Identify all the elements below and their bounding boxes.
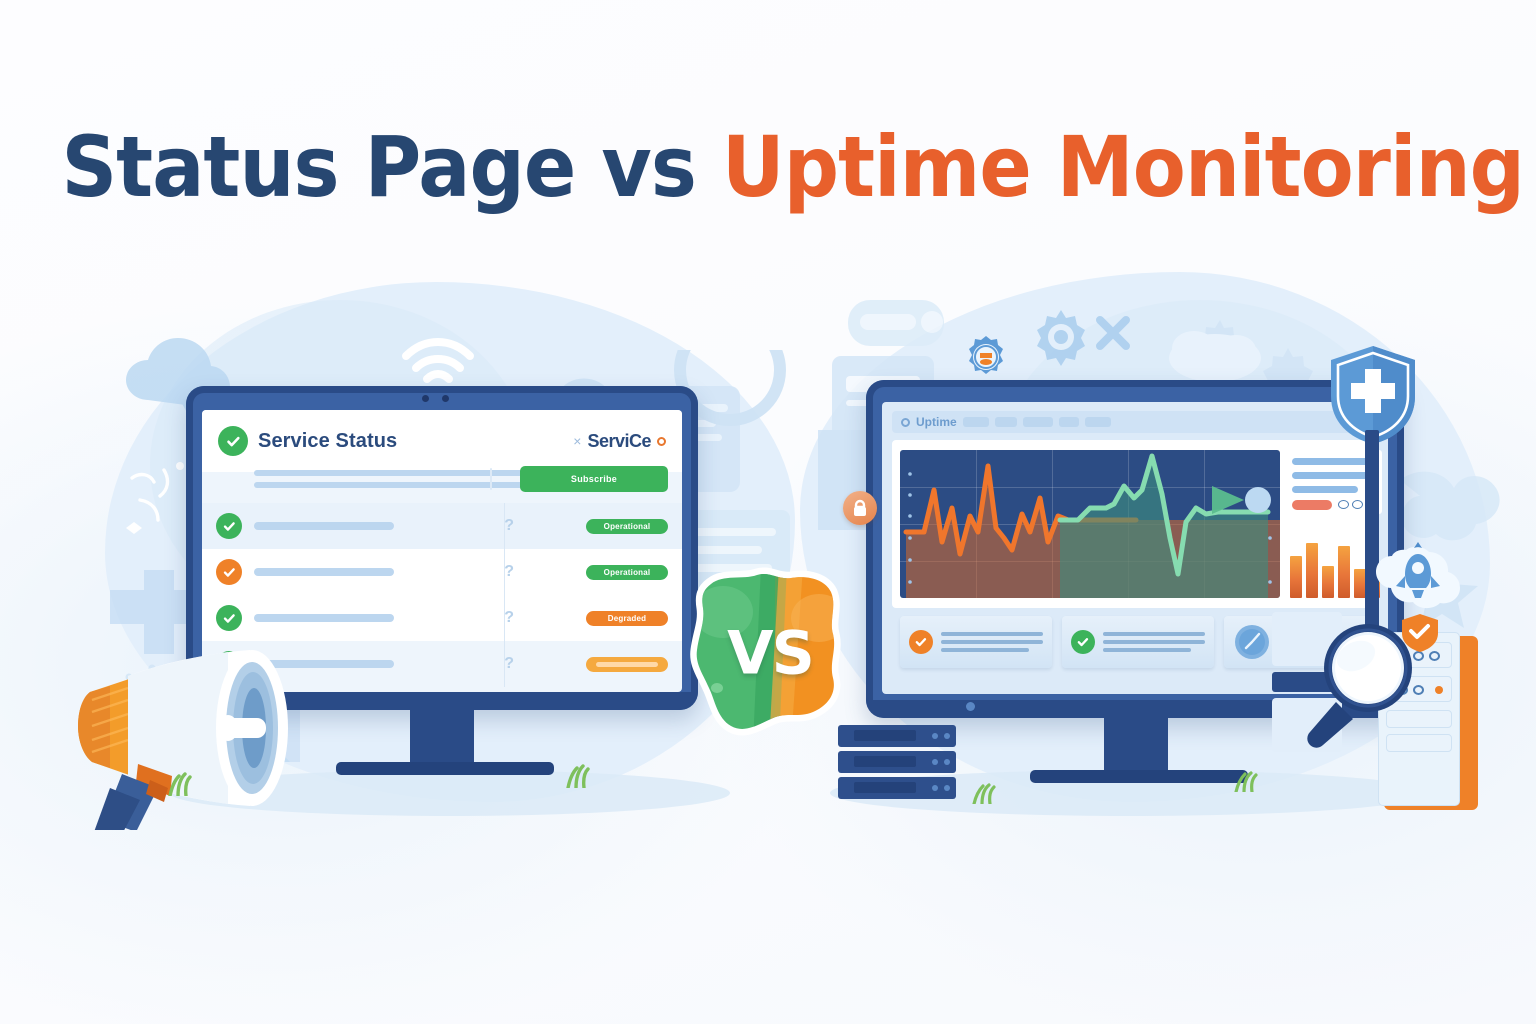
page-title: Status Page vs Uptime Monitoring	[61, 118, 1474, 216]
bar	[1322, 566, 1334, 598]
card-lines	[941, 632, 1043, 652]
axis-line	[1280, 524, 1282, 598]
check-circle-icon	[1071, 630, 1095, 654]
toolbar-segment	[1023, 417, 1053, 427]
subscribe-button[interactable]: Subscribe	[520, 466, 668, 492]
lock-icon	[843, 491, 877, 525]
check-circle-icon	[216, 559, 242, 585]
dashboard-toolbar[interactable]: Uptime	[892, 411, 1378, 433]
magnifying-glass-icon	[1292, 616, 1422, 748]
row-marker: ?	[504, 563, 514, 581]
logo-dot-icon	[657, 437, 666, 446]
toggle-icon[interactable]	[1338, 500, 1349, 509]
camera-dot-left-1	[422, 395, 429, 402]
bar	[1306, 543, 1318, 598]
row-marker: ?	[504, 655, 514, 673]
column-divider	[504, 503, 505, 687]
response-time-chart[interactable]	[900, 450, 1280, 598]
status-page-header: Service Status × ServiCe	[202, 410, 682, 472]
table-row[interactable]: ? Operational	[202, 503, 682, 549]
toolbar-segment	[1085, 417, 1111, 427]
monitor-base-right	[1030, 770, 1248, 783]
status-badge: Degraded	[586, 611, 668, 626]
summary-line	[1292, 472, 1372, 479]
card-lines	[1103, 632, 1205, 652]
summary-card[interactable]	[900, 616, 1052, 668]
monitor-neck-right	[1104, 718, 1168, 774]
summary-card[interactable]	[1062, 616, 1214, 668]
status-badge: Operational	[586, 565, 668, 580]
chart-series	[900, 450, 1280, 598]
header-divider	[490, 468, 492, 490]
card-line	[941, 640, 1043, 644]
gear-icon	[1026, 302, 1096, 372]
monitor-neck-left	[410, 710, 474, 766]
rocket-icon	[1372, 530, 1464, 618]
badge-gear-icon	[962, 333, 1010, 381]
server-unit	[838, 725, 956, 747]
check-circle-icon	[216, 605, 242, 631]
card-line	[1103, 648, 1191, 652]
row-marker: ?	[504, 609, 514, 627]
service-logo: × ServiCe	[573, 431, 666, 452]
indicator-light-right	[966, 702, 975, 711]
table-row[interactable]: ? Operational	[202, 549, 682, 595]
check-circle-icon	[909, 630, 933, 654]
toolbar-segment	[963, 417, 989, 427]
bar	[1338, 546, 1350, 598]
page-title-part-b: Uptime Monitoring	[722, 118, 1524, 216]
toolbar-segment	[995, 417, 1017, 427]
check-circle-icon	[218, 426, 248, 456]
toggle-icon[interactable]	[1352, 500, 1363, 509]
card-line	[941, 632, 1043, 636]
circle-icon	[1429, 651, 1440, 661]
summary-line	[1292, 458, 1372, 465]
monitor-base-left	[336, 762, 554, 775]
row-label-bar	[254, 614, 394, 622]
status-badge: Operational	[586, 519, 668, 534]
server-unit	[838, 777, 956, 799]
status-dot	[1435, 686, 1443, 694]
grass-decor	[560, 762, 610, 788]
badge-inner-bar	[596, 662, 658, 667]
server-stack-icon	[838, 725, 968, 807]
bar	[1290, 556, 1302, 598]
close-cross-icon	[1090, 310, 1136, 356]
circle-icon	[901, 418, 910, 427]
row-label-bar	[254, 568, 394, 576]
camera-dot-left-2	[442, 395, 449, 402]
grass-decor	[1228, 768, 1274, 792]
grass-decor	[162, 770, 212, 796]
gauge-icon	[1233, 623, 1271, 661]
card-line	[1103, 640, 1205, 644]
grass-decor	[966, 780, 1012, 804]
logo-x-mark: ×	[573, 433, 581, 449]
card-line	[941, 648, 1029, 652]
header-placeholder-bar-2	[254, 482, 524, 488]
status-badge	[586, 657, 668, 672]
check-circle-icon	[216, 513, 242, 539]
toolbar-segment	[1059, 417, 1079, 427]
summary-line	[1292, 486, 1358, 493]
service-status-heading: Service Status	[258, 430, 397, 453]
card-line	[1103, 632, 1205, 636]
row-marker: ?	[504, 517, 514, 535]
alert-pill	[1292, 500, 1332, 510]
toolbar-label: Uptime	[916, 415, 957, 429]
vs-badge: VS	[683, 566, 857, 744]
megaphone-icon	[60, 630, 350, 830]
server-unit	[838, 751, 956, 773]
page-title-part-a: Status Page vs	[61, 118, 721, 216]
logo-wordmark: ServiCe	[587, 431, 651, 452]
row-label-bar	[254, 522, 394, 530]
vs-label: VS	[683, 619, 857, 689]
header-placeholder-bar-1	[254, 470, 536, 476]
illustration-canvas: Status Page vs Uptime Monitoring	[0, 0, 1536, 1024]
